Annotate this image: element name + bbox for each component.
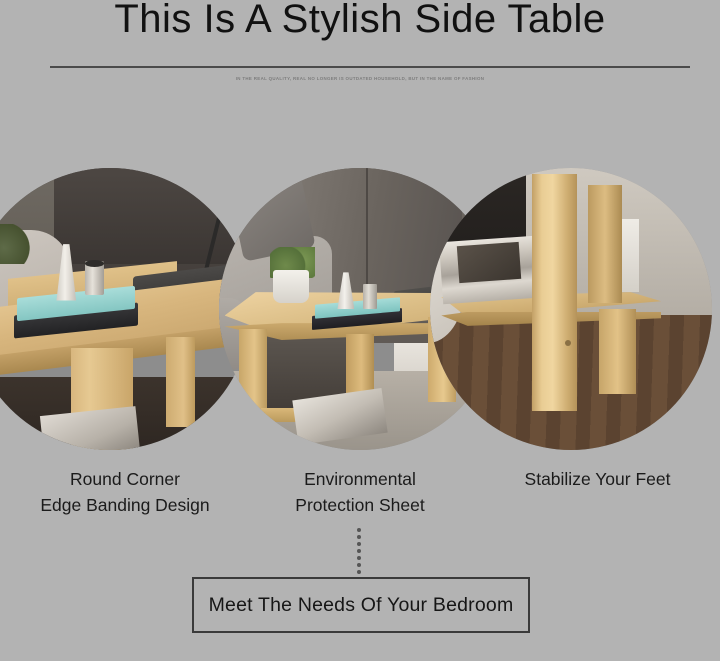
feature-photo-row [0,168,720,450]
caption-line-2: Edge Banding Design [20,492,230,518]
plant-foliage [0,224,31,263]
caption-line-1: Round Corner [20,466,230,492]
table-leg-right [166,337,194,427]
candle [363,284,377,309]
plant-pot [273,270,310,304]
connector-dot [357,535,361,539]
connector-dot [357,556,361,560]
caption-line-2: Protection Sheet [255,492,465,518]
connector-dot [357,563,361,567]
table-leg-back [588,185,622,303]
table-leg-right [599,309,636,394]
scene-tabletop-closeup [0,168,251,450]
caption-round-corner: Round Corner Edge Banding Design [20,466,230,518]
magazine-cover-photo [457,242,521,283]
caption-line-1: Stabilize Your Feet [480,466,715,492]
caption-stabilize-feet: Stabilize Your Feet [480,466,715,492]
table-leg-front [532,174,577,411]
connector-dot [357,549,361,553]
callout-box: Meet The Needs Of Your Bedroom [192,577,530,633]
product-infographic: This Is A Stylish Side Table IN THE REAL… [0,0,720,661]
dotted-connector [357,528,363,574]
callout-text: Meet The Needs Of Your Bedroom [209,594,514,617]
page-title: This Is A Stylish Side Table [0,0,720,44]
caption-line-1: Environmental [255,466,465,492]
candle-wick [85,260,105,267]
scene-legs-detail [430,168,712,450]
connector-dot [357,528,361,532]
feature-photo-round-corner [0,168,251,450]
header-divider [50,66,690,68]
connector-dot [357,570,361,574]
caption-environmental-protection: Environmental Protection Sheet [255,466,465,518]
feature-photo-stabilize-feet [430,168,712,450]
connector-dot [357,542,361,546]
header-subtitle: IN THE REAL QUALITY, REAL NO LONGER IS O… [0,76,720,81]
table-leg-left [239,329,267,419]
